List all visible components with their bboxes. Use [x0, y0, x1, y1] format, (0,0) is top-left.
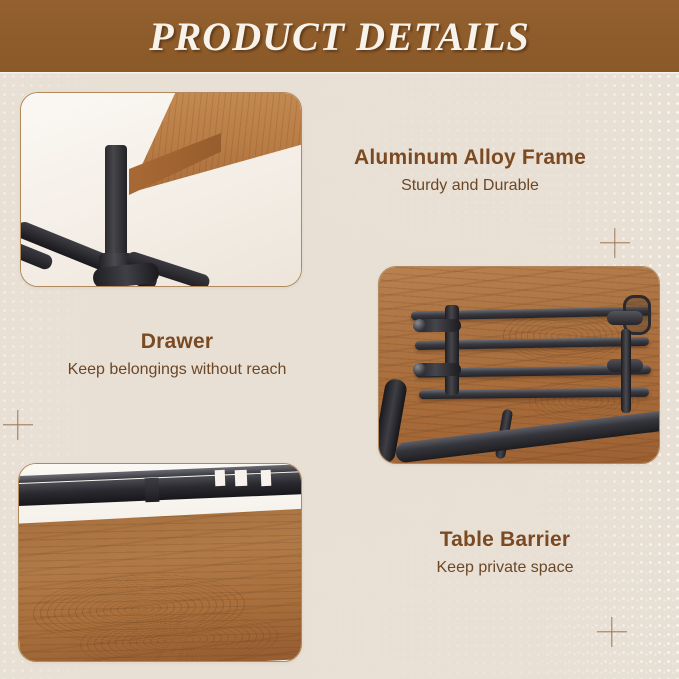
drawer-rail-notch — [235, 470, 248, 486]
feature-title: Aluminum Alloy Frame — [305, 146, 635, 170]
header-banner: PRODUCT DETAILS — [0, 0, 679, 72]
barrier-knob — [413, 319, 426, 332]
feature-subtitle: Keep belongings without reach — [12, 361, 342, 379]
barrier-right-post — [621, 329, 631, 413]
plus-mark-icon — [3, 410, 33, 440]
drawer-rail-bracket — [145, 478, 160, 503]
feature-image-table-barrier — [378, 266, 660, 464]
feature-image-drawer — [18, 463, 302, 662]
feature-label-table-barrier: Table Barrier Keep private space — [340, 528, 670, 577]
page-title: PRODUCT DETAILS — [149, 13, 530, 60]
photo-drawer — [19, 464, 301, 661]
banner-underline — [0, 72, 679, 75]
halftone-dots-bottom — [300, 479, 679, 679]
feature-title: Table Barrier — [340, 528, 670, 552]
drawer-rail-notch — [215, 470, 226, 486]
drawer-rail-notch — [261, 470, 272, 486]
barrier-end-cap — [607, 311, 643, 325]
feature-title: Drawer — [12, 330, 342, 354]
feature-label-aluminum-alloy-frame: Aluminum Alloy Frame Sturdy and Durable — [305, 146, 635, 195]
plus-mark-icon — [597, 617, 627, 647]
feature-image-aluminum-alloy-frame — [20, 92, 302, 287]
plus-mark-icon — [600, 228, 630, 258]
photo-aluminum-alloy-frame — [21, 93, 301, 286]
product-details-infographic: PRODUCT DETAILS Aluminum Alloy Frame Stu… — [0, 0, 679, 679]
photo-table-barrier — [379, 267, 659, 463]
barrier-knob — [413, 363, 426, 376]
feature-subtitle: Sturdy and Durable — [305, 177, 635, 195]
feature-label-drawer: Drawer Keep belongings without reach — [12, 330, 342, 379]
feature-subtitle: Keep private space — [340, 559, 670, 577]
